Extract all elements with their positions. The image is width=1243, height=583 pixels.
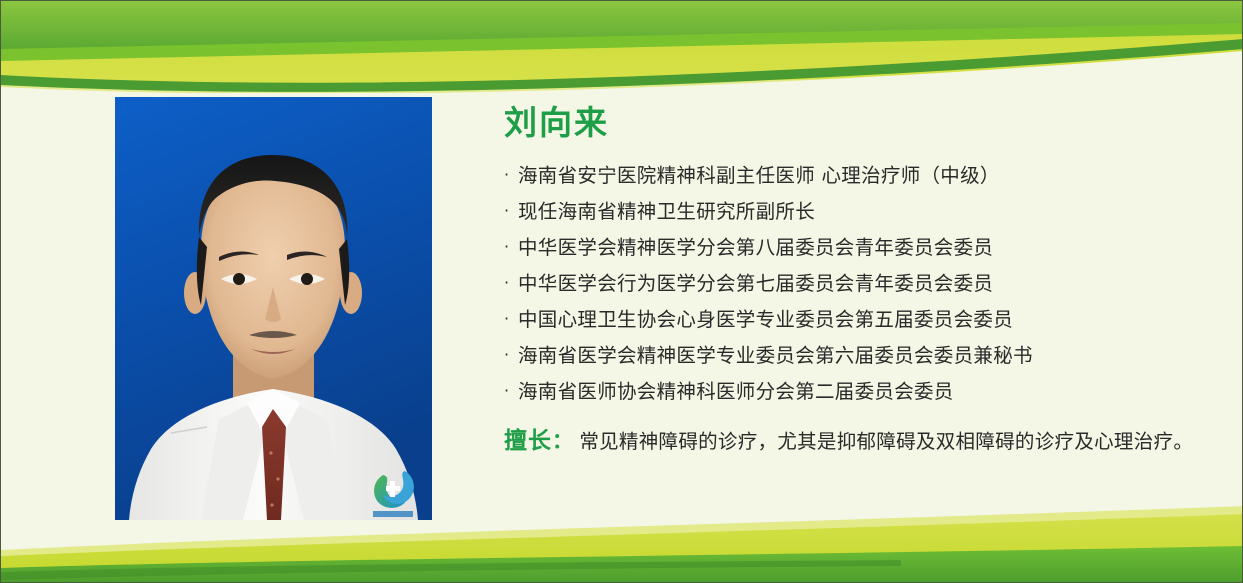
credential-text: 中华医学会行为医学分会第七届委员会青年委员会委员 (518, 272, 993, 295)
tie-pattern-dot (276, 477, 279, 480)
header-pale-wedge (1, 35, 1243, 93)
credential-item: ·海南省安宁医院精神科副主任医师 心理治疗师（中级） (504, 157, 1214, 193)
bullet-marker: · (504, 229, 518, 264)
portrait-svg (115, 97, 432, 520)
header-green-slab (1, 1, 1243, 51)
credential-item: ·海南省医师协会精神科医师分会第二届委员会委员 (504, 373, 1214, 409)
specialty-label: 擅长 (504, 428, 552, 454)
credential-text: 海南省安宁医院精神科副主任医师 心理治疗师（中级） (518, 164, 1000, 187)
header-green-sliver (1, 23, 1243, 61)
credential-item: ·中华医学会精神医学分会第八届委员会青年委员会委员 (504, 229, 1214, 265)
footer-green-base (1, 546, 1243, 582)
specialty-colon: ： (552, 429, 573, 453)
bullet-marker: · (504, 301, 518, 336)
credential-item: ·海南省医学会精神医学专业委员会第六届委员会委员兼秘书 (504, 337, 1214, 373)
credential-item: ·现任海南省精神卫生研究所副所长 (504, 193, 1214, 229)
bullet-marker: · (504, 157, 518, 192)
credential-item: ·中国心理卫生协会心身医学专业委员会第五届委员会委员 (504, 301, 1214, 337)
doctor-name: 刘向来 (504, 105, 1214, 141)
specialty-block: 擅长：常见精神障碍的诊疗，尤其是抑郁障碍及双相障碍的诊疗及心理治疗。 (504, 423, 1214, 460)
bullet-marker: · (504, 193, 518, 228)
tie-pattern-dot (270, 503, 273, 506)
credential-list: ·海南省安宁医院精神科副主任医师 心理治疗师（中级） ·现任海南省精神卫生研究所… (504, 157, 1214, 409)
credential-text: 海南省医师协会精神科医师分会第二届委员会委员 (518, 380, 954, 403)
doctor-portrait-photo (115, 97, 432, 520)
pupil-right (301, 273, 313, 285)
doctor-profile-card: 刘向来 ·海南省安宁医院精神科副主任医师 心理治疗师（中级） ·现任海南省精神卫… (0, 0, 1243, 583)
tie-pattern-dot (269, 451, 272, 454)
specialty-text: 常见精神障碍的诊疗，尤其是抑郁障碍及双相障碍的诊疗及心理治疗。 (579, 430, 1193, 453)
credential-item: ·中华医学会行为医学分会第七届委员会青年委员会委员 (504, 265, 1214, 301)
header-cream-fill (1, 51, 1243, 93)
pupil-left (233, 273, 245, 285)
header-decorative-band (1, 1, 1243, 93)
credential-text: 现任海南省精神卫生研究所副所长 (518, 200, 815, 223)
footer-green-sliver (1, 560, 901, 580)
credential-text: 海南省医学会精神医学专业委员会第六届委员会委员兼秘书 (518, 344, 1033, 367)
header-band-svg (1, 1, 1243, 93)
header-dark-swoosh (1, 39, 1243, 92)
header-yellow-band (1, 25, 1243, 85)
doctor-info-column: 刘向来 ·海南省安宁医院精神科副主任医师 心理治疗师（中级） ·现任海南省精神卫… (504, 105, 1214, 460)
credential-text: 中华医学会精神医学分会第八届委员会青年委员会委员 (518, 236, 993, 259)
bullet-marker: · (504, 373, 518, 408)
bullet-marker: · (504, 337, 518, 372)
footer-yellow-band (1, 514, 1243, 574)
bullet-marker: · (504, 265, 518, 300)
credential-text: 中国心理卫生协会心身医学专业委员会第五届委员会委员 (518, 308, 1013, 331)
